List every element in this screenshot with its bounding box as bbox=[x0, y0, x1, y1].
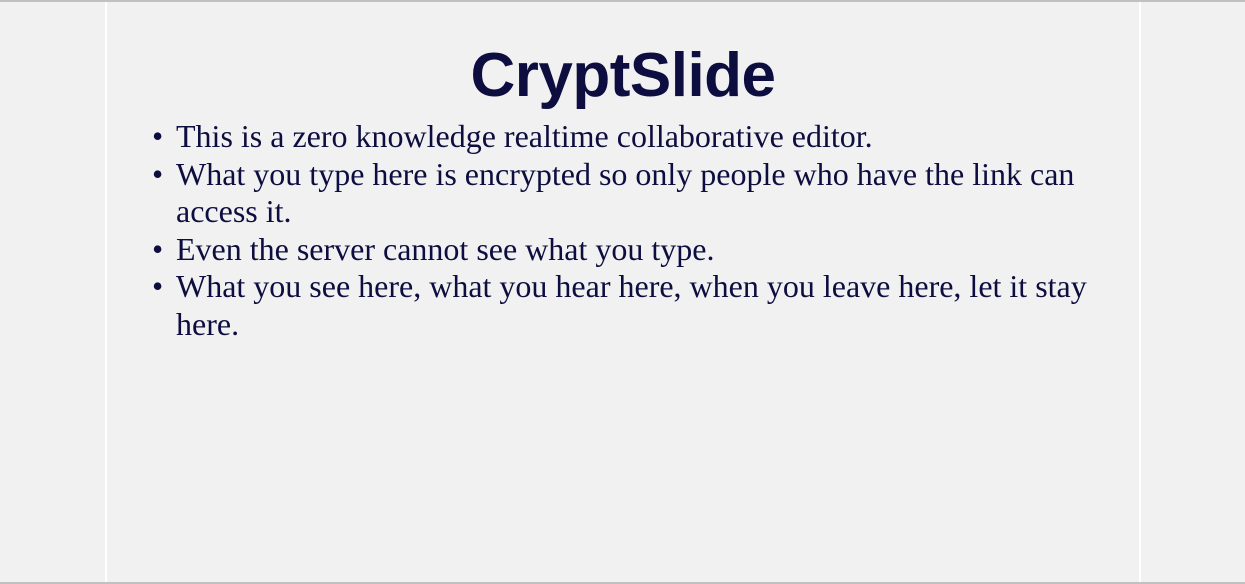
list-item[interactable]: • What you see here, what you hear here,… bbox=[107, 268, 1139, 343]
list-item-text: What you see here, what you hear here, w… bbox=[176, 268, 1099, 343]
bullet-point-icon: • bbox=[152, 156, 163, 194]
page-title[interactable]: CryptSlide bbox=[107, 42, 1139, 110]
slide-frame-divider-right bbox=[1139, 2, 1141, 582]
bullet-point-icon: • bbox=[152, 268, 163, 306]
list-item-text: What you type here is encrypted so only … bbox=[176, 156, 1099, 231]
slide-bullet-list: • This is a zero knowledge realtime coll… bbox=[107, 118, 1139, 343]
list-item[interactable]: • Even the server cannot see what you ty… bbox=[107, 231, 1139, 269]
list-item-text: This is a zero knowledge realtime collab… bbox=[176, 118, 1099, 156]
slide-viewer: CryptSlide • This is a zero knowledge re… bbox=[0, 0, 1245, 584]
list-item[interactable]: • What you type here is encrypted so onl… bbox=[107, 156, 1139, 231]
bullet-point-icon: • bbox=[152, 231, 163, 269]
list-item-text: Even the server cannot see what you type… bbox=[176, 231, 1099, 269]
slide-canvas[interactable]: CryptSlide • This is a zero knowledge re… bbox=[107, 2, 1139, 582]
bullet-point-icon: • bbox=[152, 118, 163, 156]
list-item[interactable]: • This is a zero knowledge realtime coll… bbox=[107, 118, 1139, 156]
